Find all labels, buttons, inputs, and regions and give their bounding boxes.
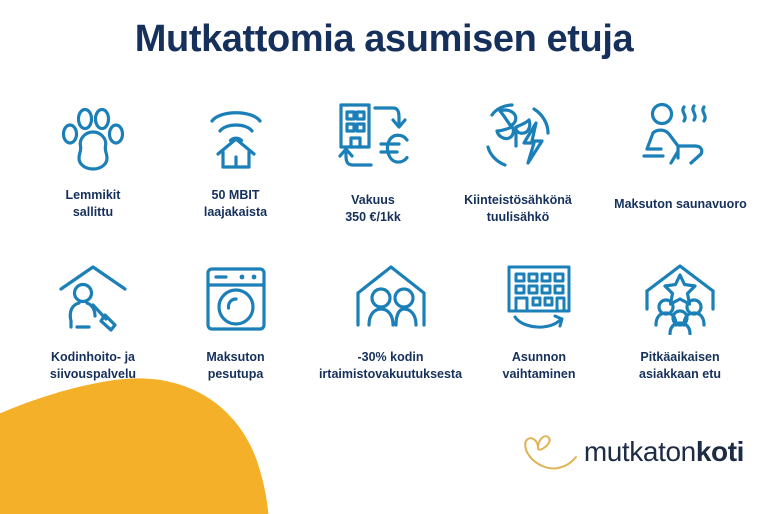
- decorative-amber-blob: [0, 364, 290, 514]
- building-euro-exchange-icon: [333, 96, 413, 178]
- benefit-item-broadband: 50 MBIT laajakaista: [168, 96, 303, 225]
- logo-word-light: mutkaton: [584, 436, 696, 467]
- benefit-item-insurance: -30% kodin irtaimistovakuutuksesta: [303, 258, 478, 382]
- benefit-item-deposit: Vakuus 350 €/1kk: [303, 96, 443, 225]
- benefit-label: Kiinteistösähkönä tuulisähkö: [464, 192, 572, 225]
- wind-turbine-bolt-icon: [480, 96, 556, 178]
- house-two-people-icon: [352, 258, 430, 340]
- benefit-label: Vakuus 350 €/1kk: [345, 192, 401, 225]
- swirl-heart-mark: [518, 426, 580, 478]
- benefit-item-laundry: Maksuton pesutupa: [168, 258, 303, 382]
- logo-word-bold: koti: [696, 436, 744, 467]
- benefit-label: Maksuton pesutupa: [206, 349, 264, 382]
- washing-machine-icon: [200, 258, 272, 340]
- wifi-house-icon: [200, 96, 272, 178]
- benefit-item-loyalty: Pitkäaikaisen asiakkaan etu: [600, 258, 760, 382]
- benefit-label: Lemmikit sallittu: [66, 187, 121, 220]
- cleaning-person-roof-icon: [55, 258, 131, 340]
- paw-print-icon: [57, 96, 129, 178]
- benefit-label: Maksuton saunavuoro: [614, 196, 747, 213]
- apartment-swap-icon: [501, 258, 577, 340]
- benefit-label: Kodinhoito- ja siivouspalvelu: [50, 349, 136, 382]
- benefits-row-1: Lemmikit sallittu 50 MBIT laajakaista: [0, 96, 768, 225]
- benefit-label: 50 MBIT laajakaista: [204, 187, 267, 220]
- benefit-item-sauna: Maksuton saunavuoro: [593, 96, 768, 225]
- benefit-item-windpower: Kiinteistösähkönä tuulisähkö: [443, 96, 593, 225]
- benefit-item-pets: Lemmikit sallittu: [18, 96, 168, 225]
- benefits-row-2: Kodinhoito- ja siivouspalvelu Maksuton p…: [0, 258, 768, 382]
- benefit-item-cleaning: Kodinhoito- ja siivouspalvelu: [18, 258, 168, 382]
- benefit-item-apartment-swap: Asunnon vaihtaminen: [478, 258, 600, 382]
- benefit-label: Asunnon vaihtaminen: [503, 349, 576, 382]
- benefit-label: -30% kodin irtaimistovakuutuksesta: [319, 349, 462, 382]
- sauna-person-steam-icon: [639, 96, 723, 178]
- benefit-label: Pitkäaikaisen asiakkaan etu: [639, 349, 721, 382]
- infographic-canvas: Mutkattomia asumisen etuja Lemmikit sall…: [0, 0, 768, 514]
- page-title: Mutkattomia asumisen etuja: [0, 18, 768, 61]
- logo-wordmark: mutkatonkoti: [584, 438, 744, 466]
- house-star-people-icon: [641, 258, 719, 340]
- brand-logo[interactable]: mutkatonkoti: [518, 426, 744, 478]
